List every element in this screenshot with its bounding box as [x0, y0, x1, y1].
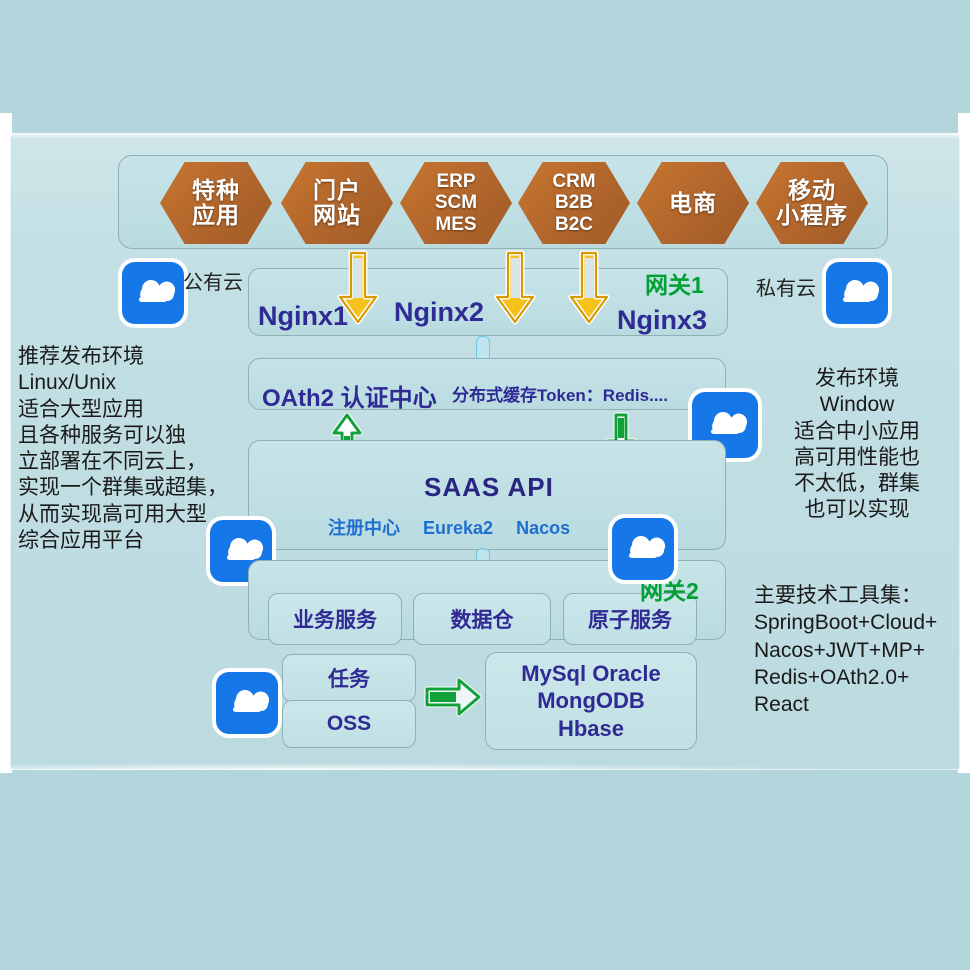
database-box[interactable]: MySql Oracle MongODB Hbase — [485, 652, 697, 750]
cloud-icon — [216, 672, 278, 734]
app-hex-line: 网站 — [313, 203, 361, 228]
app-hex-line: 小程序 — [776, 203, 848, 228]
app-hex-line: 特种 — [192, 178, 240, 203]
saas-api-title: SAAS API — [424, 472, 554, 503]
right-environment-note: 发布环境 Window 适合中小应用 高可用性能也 不太低，群集 也可以实现 — [762, 366, 952, 524]
public-cloud-icon — [122, 262, 184, 324]
app-hex-line: B2C — [555, 214, 593, 235]
database-line: MongODB — [537, 687, 645, 715]
service-datawarehouse[interactable]: 数据仓 — [413, 593, 551, 645]
database-line: Hbase — [558, 715, 624, 743]
database-line: MySql Oracle — [521, 660, 660, 688]
registry-eureka: Eureka2 — [423, 518, 493, 538]
registry-label: 注册中心 — [328, 518, 400, 538]
right-arrow-icon — [424, 676, 482, 718]
app-hex-line: 门户 — [313, 178, 361, 203]
app-hex-line: CRM — [552, 171, 595, 192]
public-cloud-label: 公有云 — [183, 266, 243, 295]
service-business[interactable]: 业务服务 — [268, 593, 402, 645]
gateway1-label: 网关1 — [645, 266, 704, 300]
app-hex-line: B2B — [555, 192, 593, 213]
down-arrow-icon — [335, 250, 381, 326]
down-arrow-icon — [566, 250, 612, 326]
private-cloud-label: 私有云 — [756, 272, 816, 301]
cloud-icon — [612, 518, 674, 580]
app-hex-line: ERP — [436, 171, 475, 192]
tech-stack-note: 主要技术工具集： SpringBoot+Cloud+ Nacos+JWT+MP+… — [754, 582, 937, 718]
diagram-canvas: 特种 应用 门户 网站 ERP SCM MES CRM B2B B2C 电商 移… — [0, 0, 970, 970]
app-hex-line: MES — [435, 214, 476, 235]
registry-nacos: Nacos — [516, 518, 570, 538]
nginx2-label: Nginx2 — [394, 297, 484, 328]
app-hex-line: 电商 — [669, 191, 717, 216]
app-hex-line: 应用 — [192, 203, 240, 228]
oauth-cache-label: 分布式缓存Token：Redis.... — [452, 381, 668, 406]
app-hex-line: SCM — [435, 192, 477, 213]
app-hex-line: 移动 — [788, 178, 836, 203]
private-cloud-icon — [826, 262, 888, 324]
oauth-title: OAth2 认证中心 — [262, 378, 437, 413]
nginx3-label: Nginx3 — [617, 305, 707, 336]
registry-row: 注册中心 Eureka2 Nacos — [328, 514, 588, 540]
left-environment-note: 推荐发布环境 Linux/Unix 适合大型应用 且各种服务可以独 立部署在不同… — [18, 344, 228, 554]
task-box[interactable]: 任务 — [282, 654, 416, 702]
oss-box[interactable]: OSS — [282, 700, 416, 748]
down-arrow-icon — [492, 250, 538, 326]
